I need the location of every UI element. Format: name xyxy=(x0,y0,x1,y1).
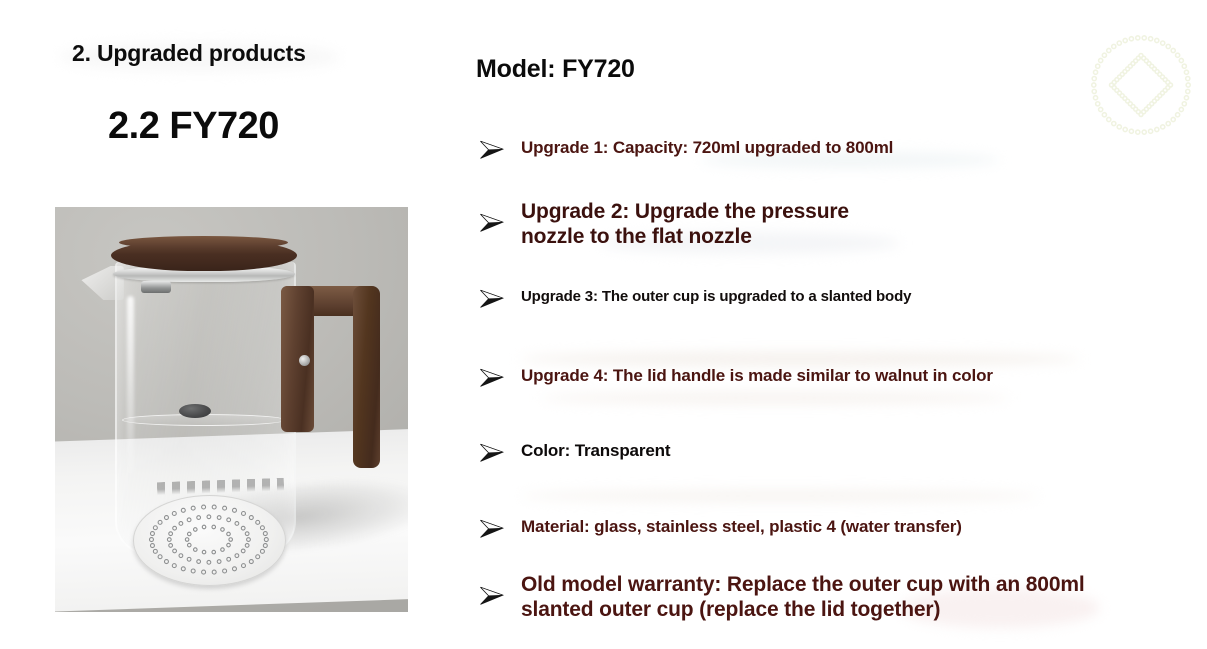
bullet-text-upgrade-1: Upgrade 1: Capacity: 720ml upgraded to 8… xyxy=(521,138,893,158)
arrow-bullet-icon xyxy=(479,586,505,606)
arrow-bullet-icon xyxy=(479,443,505,463)
model-title: Model: FY720 xyxy=(476,55,635,84)
teapot-metal-clip xyxy=(141,281,171,293)
arrow-bullet-icon xyxy=(479,368,505,388)
bullet-text-old-model-warranty: Old model warranty: Replace the outer cu… xyxy=(521,573,1085,623)
arrow-bullet-icon xyxy=(479,140,505,160)
background-smudge xyxy=(540,392,1010,404)
teapot-handle-screw xyxy=(299,355,310,366)
bullet-old-model-warranty: Old model warranty: Replace the outer cu… xyxy=(479,573,1085,623)
arrow-bullet-icon xyxy=(479,289,505,309)
bullet-upgrade-3: Upgrade 3: The outer cup is upgraded to … xyxy=(479,288,911,309)
teapot-glass-highlight xyxy=(127,296,134,474)
bullet-text-upgrade-3: Upgrade 3: The outer cup is upgraded to … xyxy=(521,288,911,306)
bullet-color: Color: Transparent xyxy=(479,441,670,463)
bullet-text-material: Material: glass, stainless steel, plasti… xyxy=(521,517,962,537)
teapot-flat-nozzle-valve xyxy=(179,404,211,418)
teapot-handle-outer-post xyxy=(353,286,379,468)
bullet-text-color: Color: Transparent xyxy=(521,441,670,461)
bullet-text-upgrade-2: Upgrade 2: Upgrade the pressure nozzle t… xyxy=(521,200,849,250)
bullet-text-upgrade-4: Upgrade 4: The lid handle is made simila… xyxy=(521,366,993,386)
bullet-upgrade-2: Upgrade 2: Upgrade the pressure nozzle t… xyxy=(479,200,849,250)
arrow-bullet-icon xyxy=(479,519,505,539)
circle-diamond-dotted-logo-icon xyxy=(1082,26,1200,144)
strainer-plate-holes xyxy=(133,495,285,584)
bullet-upgrade-1: Upgrade 1: Capacity: 720ml upgraded to 8… xyxy=(479,138,893,160)
section-heading: 2. Upgraded products xyxy=(72,40,306,67)
teapot-lid-top xyxy=(119,236,288,249)
bullet-material: Material: glass, stainless steel, plasti… xyxy=(479,517,962,539)
background-smudge xyxy=(520,490,1040,502)
product-photo xyxy=(55,207,408,612)
subsection-heading: 2.2 FY720 xyxy=(108,105,279,148)
bullet-upgrade-4: Upgrade 4: The lid handle is made simila… xyxy=(479,366,993,388)
background-smudge xyxy=(520,352,1080,366)
arrow-bullet-icon xyxy=(479,213,505,233)
